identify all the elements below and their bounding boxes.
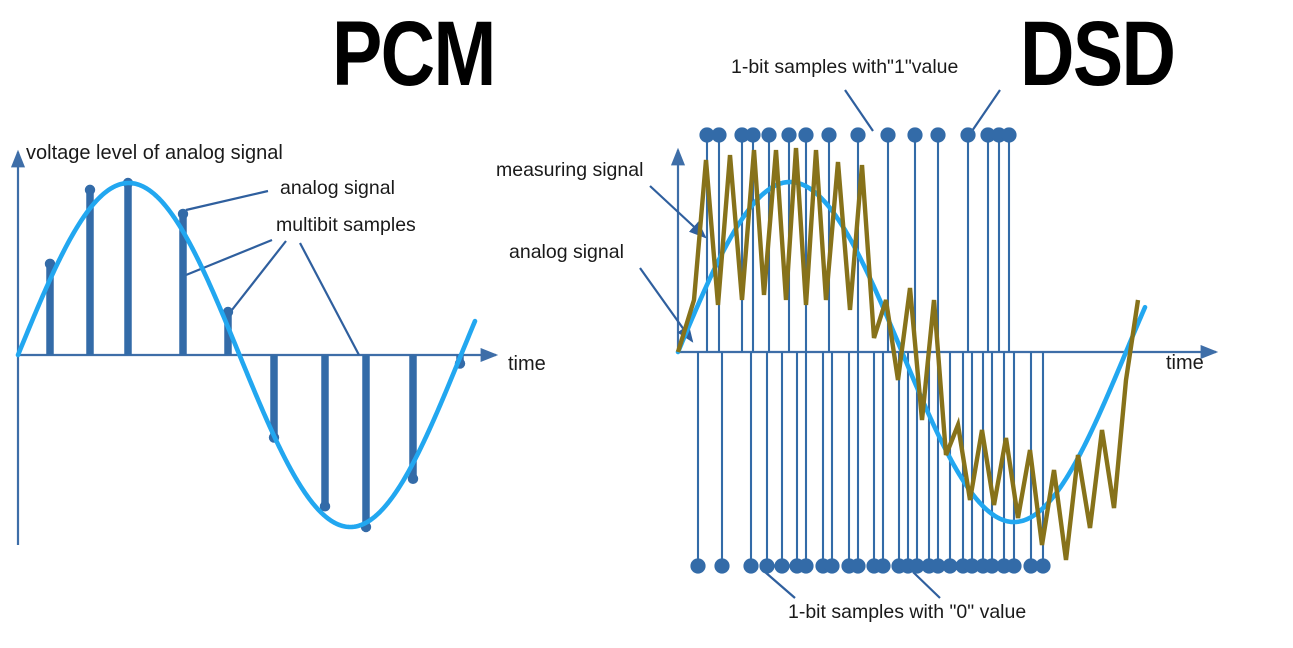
leader-multibit-c xyxy=(300,243,359,355)
leader-one-bit-low-right xyxy=(913,572,940,598)
pcm-x-axis-label: time xyxy=(508,353,546,376)
one-bit-low-dot xyxy=(774,558,789,573)
one-bit-high-dot xyxy=(930,127,945,142)
leader-one-bit-high-right xyxy=(972,90,1000,131)
leader-one-bit-low-left xyxy=(765,572,795,598)
one-bit-low-dot xyxy=(798,558,813,573)
dsd-anno-analog-signal: analog signal xyxy=(509,242,624,263)
multibit-sample-dot xyxy=(408,474,418,484)
leader-multibit-b xyxy=(228,241,286,315)
one-bit-low-dot xyxy=(1035,558,1050,573)
leader-one-bit-high-left xyxy=(845,90,873,131)
dsd-anno-measuring-signal: measuring signal xyxy=(496,160,643,181)
diagram-canvas: PCM DSD xyxy=(0,0,1293,648)
one-bit-low-dot xyxy=(690,558,705,573)
one-bit-low-dot xyxy=(1006,558,1021,573)
one-bit-low-dot xyxy=(714,558,729,573)
pcm-y-axis-label: voltage level of analog signal xyxy=(26,142,283,165)
one-bit-high-dot xyxy=(850,127,865,142)
one-bit-high-dot xyxy=(1001,127,1016,142)
multibit-sample-dot xyxy=(85,185,95,195)
pcm-anno-analog-signal: analog signal xyxy=(280,178,395,199)
one-bit-high-dot xyxy=(798,127,813,142)
leader-analog-signal xyxy=(186,191,268,210)
dsd-chart-stems xyxy=(690,127,1050,573)
one-bit-high-dot xyxy=(781,127,796,142)
one-bit-high-dot xyxy=(821,127,836,142)
one-bit-high-dot xyxy=(745,127,760,142)
multibit-sample-dot xyxy=(178,209,188,219)
one-bit-high-dot xyxy=(711,127,726,142)
one-bit-low-dot xyxy=(850,558,865,573)
one-bit-low-dot xyxy=(759,558,774,573)
signal-plot-layer xyxy=(0,0,1293,648)
dsd-anno-one-bit-high: 1-bit samples with"1"value xyxy=(731,57,958,78)
dsd-anno-one-bit-low: 1-bit samples with "0" value xyxy=(788,602,1026,623)
one-bit-high-dot xyxy=(960,127,975,142)
dsd-chart-curves xyxy=(678,148,1145,560)
one-bit-low-dot xyxy=(942,558,957,573)
one-bit-high-dot xyxy=(761,127,776,142)
one-bit-low-dot xyxy=(824,558,839,573)
dsd-series xyxy=(678,127,1145,573)
dsd-x-axis-label: time xyxy=(1166,352,1204,375)
dsd-leader-lines xyxy=(640,90,1000,598)
pcm-anno-multibit-samples: multibit samples xyxy=(276,215,416,236)
one-bit-low-dot xyxy=(875,558,890,573)
one-bit-low-dot xyxy=(743,558,758,573)
one-bit-high-dot xyxy=(907,127,922,142)
one-bit-high-dot xyxy=(880,127,895,142)
